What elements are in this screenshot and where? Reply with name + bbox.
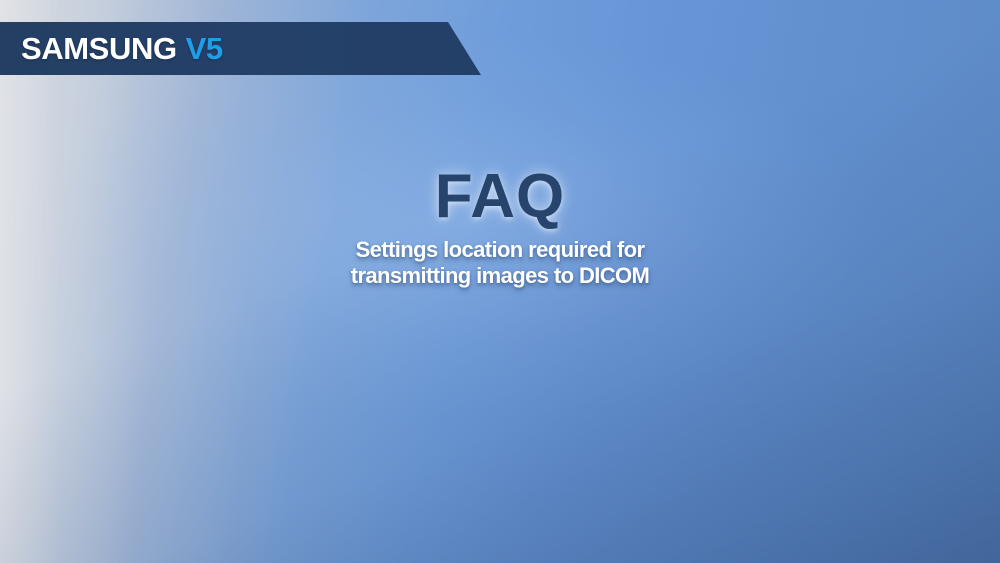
page-title-line-1: Settings location required for (18, 237, 982, 263)
brand-banner-text: SAMSUNGV5 (21, 33, 223, 64)
brand-version-label: V5 (186, 31, 223, 66)
title-block: FAQ Settings location required for trans… (0, 160, 1000, 288)
page-title: Settings location required for transmitt… (0, 237, 1000, 288)
brand-banner: SAMSUNGV5 (0, 22, 481, 75)
brand-name-label: SAMSUNG (21, 31, 177, 66)
page-title-line-2: transmitting images to DICOM (18, 263, 982, 289)
eyebrow-label: FAQ (0, 160, 1000, 233)
faq-title-card: SAMSUNGV5 FAQ Settings location required… (0, 0, 1000, 563)
